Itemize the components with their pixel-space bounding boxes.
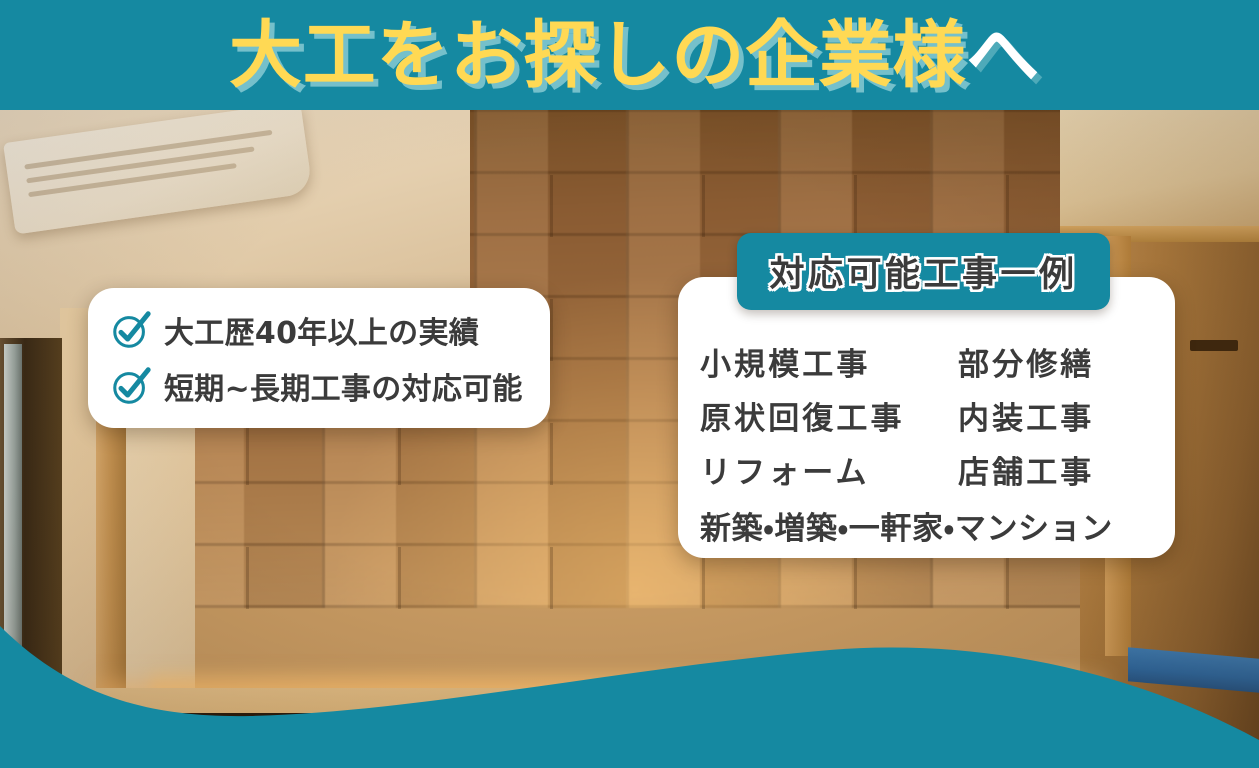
page-title-main: 大工をお探しの企業 bbox=[229, 13, 893, 98]
service-item: 部分修繕 bbox=[958, 339, 1175, 384]
service-item: 店舗工事 bbox=[958, 447, 1175, 492]
banner-root: 大工をお探しの企業様へ 大工歴40年以上の実績 短期~長期工事の対応可能 bbox=[0, 0, 1259, 768]
feature-label: 大工歴40年以上の実績 bbox=[164, 308, 479, 352]
feature-item: 短期~長期工事の対応可能 bbox=[110, 364, 550, 408]
services-grid: 小規模工事 部分修繕 原状回復工事 内装工事 リフォーム 店舗工事 新築・増築・… bbox=[678, 339, 1175, 548]
feature-label: 短期~長期工事の対応可能 bbox=[164, 364, 523, 408]
service-item: 原状回復工事 bbox=[700, 393, 958, 438]
services-card: 小規模工事 部分修繕 原状回復工事 内装工事 リフォーム 店舗工事 新築・増築・… bbox=[678, 277, 1175, 558]
page-title-suffix: 様 bbox=[893, 13, 967, 98]
service-item: 内装工事 bbox=[958, 393, 1175, 438]
page-title-tail: へ bbox=[966, 13, 1040, 98]
service-item: 小規模工事 bbox=[700, 339, 958, 384]
services-badge-label: 対応可能工事一例 bbox=[769, 246, 1077, 297]
service-item-wide: 新築・増築・一軒家・マンション bbox=[700, 503, 1175, 548]
services-badge: 対応可能工事一例 bbox=[737, 233, 1110, 310]
alcove-notch bbox=[1190, 340, 1238, 351]
bottom-wave-decoration bbox=[0, 598, 1259, 768]
check-circle-icon bbox=[110, 365, 152, 407]
feature-item: 大工歴40年以上の実績 bbox=[110, 308, 550, 352]
header-band: 大工をお探しの企業様へ bbox=[0, 0, 1259, 110]
features-card: 大工歴40年以上の実績 短期~長期工事の対応可能 bbox=[88, 288, 550, 428]
service-item: リフォーム bbox=[700, 447, 958, 492]
alcove-header-panel bbox=[1060, 108, 1259, 233]
check-circle-icon bbox=[110, 309, 152, 351]
page-title: 大工をお探しの企業様へ bbox=[219, 19, 1040, 92]
